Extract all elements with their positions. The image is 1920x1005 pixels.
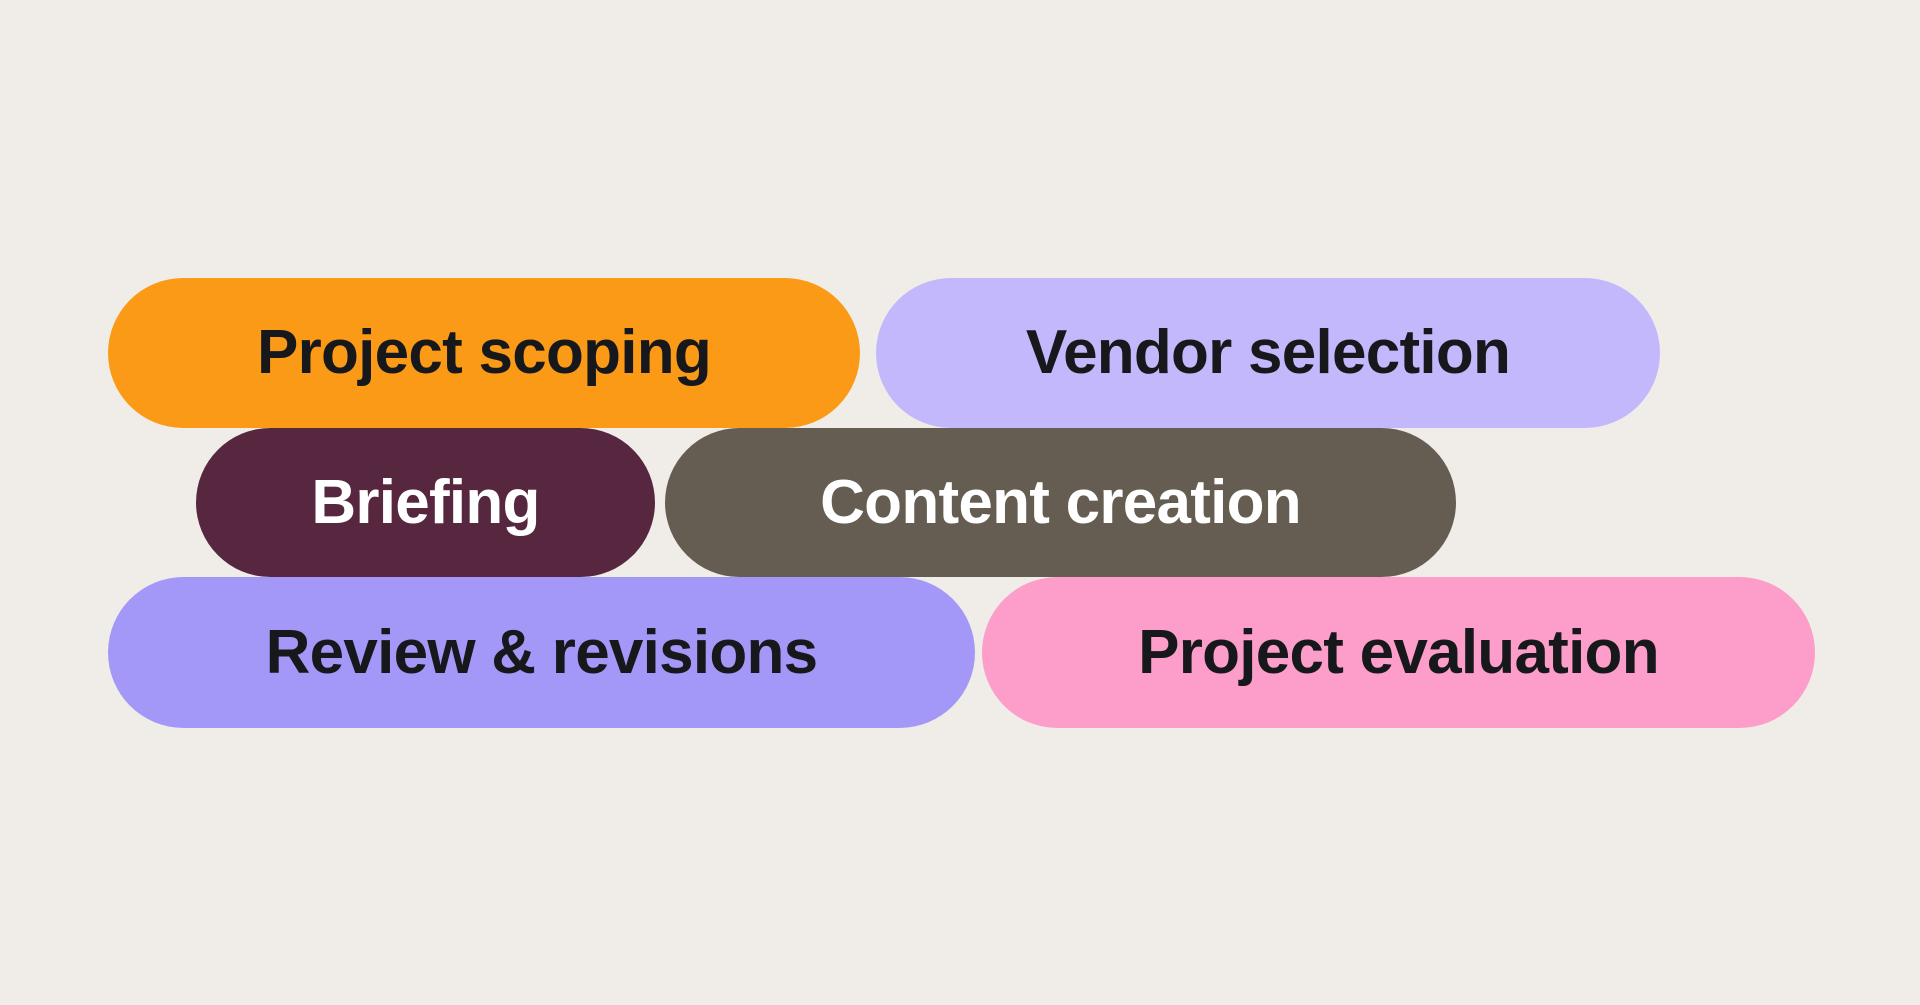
pill-label-content-creation: Content creation [820,472,1301,534]
pill-project-scoping[interactable]: Project scoping [108,278,860,428]
pill-row-1: Project scoping Vendor selection [0,278,1920,428]
pill-row-3: Review & revisions Project evaluation [0,577,1920,728]
pill-content-creation[interactable]: Content creation [665,428,1456,577]
pill-project-evaluation[interactable]: Project evaluation [982,577,1815,728]
pill-label-review-and-revisions: Review & revisions [266,622,818,684]
diagram-canvas: Project scoping Vendor selection Briefin… [0,0,1920,1005]
pill-briefing[interactable]: Briefing [196,428,655,577]
pill-stack: Project scoping Vendor selection Briefin… [0,0,1920,1005]
pill-label-project-evaluation: Project evaluation [1138,622,1659,684]
pill-label-project-scoping: Project scoping [257,322,711,384]
pill-row-2: Briefing Content creation [0,428,1920,577]
pill-vendor-selection[interactable]: Vendor selection [876,278,1660,428]
pill-label-vendor-selection: Vendor selection [1026,322,1510,384]
pill-label-briefing: Briefing [311,472,539,534]
pill-review-and-revisions[interactable]: Review & revisions [108,577,975,728]
